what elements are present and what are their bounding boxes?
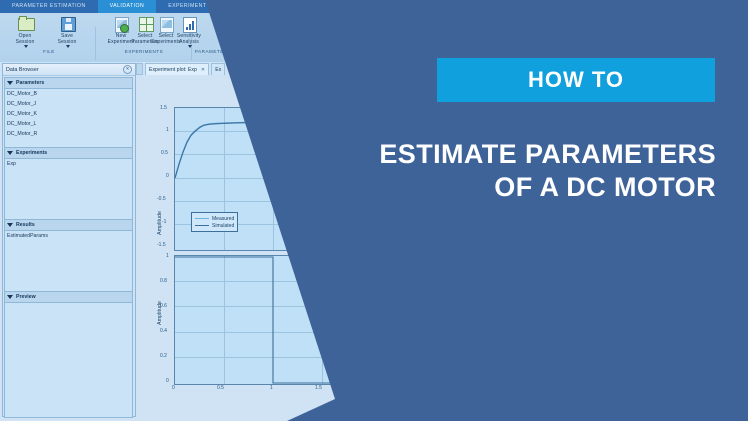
how-to-badge: HOW TO [437,58,715,102]
ribbon-tab-label: PARAMETER ESTIMATION [12,0,86,13]
results-section-header[interactable]: Results [4,219,133,231]
ribbon-group-file: Open Session Save Session [4,13,88,48]
parameters-section: Parameters DC_Motor_B DC_Motor_J DC_Moto… [4,77,133,148]
bottom-plot-xtick: 0 [172,385,175,391]
sensitivity-analysis-button[interactable]: Sensitivity Analysis [167,13,211,48]
chevron-down-icon [7,223,13,227]
bottom-plot-xtick: 1.5 [315,385,322,391]
top-plot-ytick: -0.5 [157,196,166,202]
top-plot-ytick: 1.5 [160,105,167,111]
page-title: ESTIMATE PARAMETERS OF A DC MOTOR [320,138,716,204]
parameters-section-title: Parameters [16,80,44,86]
results-section-title: Results [16,222,35,228]
save-disk-icon [59,15,76,32]
close-icon[interactable]: ✕ [201,67,205,73]
experiments-list[interactable]: Exp [4,159,133,220]
results-section: Results EstimatedParams [4,219,133,292]
tab-secondary[interactable]: Ex [211,63,225,75]
list-item[interactable]: DC_Motor_L [5,119,132,129]
sensitivity-analysis-label: Sensitivity Analysis [177,33,201,45]
preview-section: Preview [4,291,133,418]
data-browser-title: Data Browser [3,67,39,73]
save-session-button[interactable]: Save Session [46,13,88,48]
tab-experiment-plot-exp[interactable]: Experiment plot: Exp ✕ [145,63,209,75]
top-plot-ytick: -1 [162,219,166,225]
list-item[interactable]: DC_Motor_R [5,129,132,139]
list-item[interactable]: DC_Motor_K [5,109,132,119]
list-item[interactable]: DC_Motor_J [5,99,132,109]
bottom-plot-xtick: 1 [270,385,273,391]
bottom-plot-ytick: 0.2 [160,353,167,359]
open-session-label: Open Session [16,33,35,45]
select-parameters-grid-icon [137,15,154,32]
select-parameters-button[interactable]: Select Parameters [123,13,167,45]
preview-section-title: Preview [16,294,36,300]
chevron-down-icon [7,151,13,155]
sensitivity-analysis-icon [181,15,198,32]
open-session-button[interactable]: Open Session [4,13,46,48]
top-plot-ytick: 0.5 [161,150,168,156]
list-item[interactable]: EstimatedParams [5,231,132,241]
list-item[interactable]: Exp [5,159,132,169]
list-item[interactable]: DC_Motor_B [5,89,132,99]
bottom-plot-ytick: 0.6 [160,303,167,309]
experiments-section-header[interactable]: Experiments [4,147,133,159]
tab-drag-handle[interactable] [136,63,143,75]
experiments-section: Experiments Exp [4,147,133,220]
top-plot-ytick: -1.5 [157,242,166,248]
group-name-file: FILE [4,49,94,54]
bottom-plot-ytick: 0.8 [160,278,167,284]
legend-entry-measured: Measured [195,215,234,222]
close-icon[interactable]: ✕ [123,65,132,74]
top-plot-ytick: 0 [166,173,169,179]
bottom-plot-ytick: 1 [166,253,169,259]
legend-swatch-simulated [195,225,209,226]
tab-label: Ex [215,67,221,73]
how-to-badge-label: HOW TO [528,67,624,93]
page-title-line-1: ESTIMATE PARAMETERS [320,138,716,171]
data-browser-header: Data Browser ✕ [3,64,135,76]
chevron-down-icon [7,81,13,85]
parameters-list[interactable]: DC_Motor_B DC_Motor_J DC_Motor_K DC_Moto… [4,89,133,148]
select-parameters-label: Select Parameters [131,33,158,45]
save-session-label: Save Session [58,33,77,45]
ribbon-tab-label: VALIDATION [110,0,145,13]
data-browser-panel: Data Browser ✕ Parameters DC_Motor_B DC_… [2,63,136,417]
chevron-down-icon [7,295,13,299]
top-plot-ytick: 1 [166,127,169,133]
parameters-section-header[interactable]: Parameters [4,77,133,89]
open-folder-icon [17,15,34,32]
page-title-line-2: OF A DC MOTOR [320,171,716,204]
legend-swatch-measured [195,218,209,219]
legend-label: Measured [212,216,234,222]
app-root: PARAMETER ESTIMATION VALIDATION EXPERIME… [0,0,748,421]
bottom-plot-ytick: 0.4 [160,328,167,334]
legend-entry-simulated: Simulated [195,222,234,229]
bottom-plot-ytick: 0 [166,378,169,384]
ribbon-tab-validation[interactable]: VALIDATION [98,0,157,13]
bottom-plot-xtick: 0.5 [217,385,224,391]
preview-section-header[interactable]: Preview [4,291,133,303]
legend-label: Simulated [212,223,234,229]
top-plot-legend[interactable]: Measured Simulated [191,212,238,232]
results-list[interactable]: EstimatedParams [4,231,133,292]
ribbon-tab-parameter-estimation[interactable]: PARAMETER ESTIMATION [0,0,98,13]
ribbon-group-parameters-buttons: Select Parameters Sensitivity Analysis [123,13,211,48]
experiments-section-title: Experiments [16,150,47,156]
tab-label: Experiment plot: Exp [149,67,197,73]
preview-area[interactable] [4,303,133,418]
